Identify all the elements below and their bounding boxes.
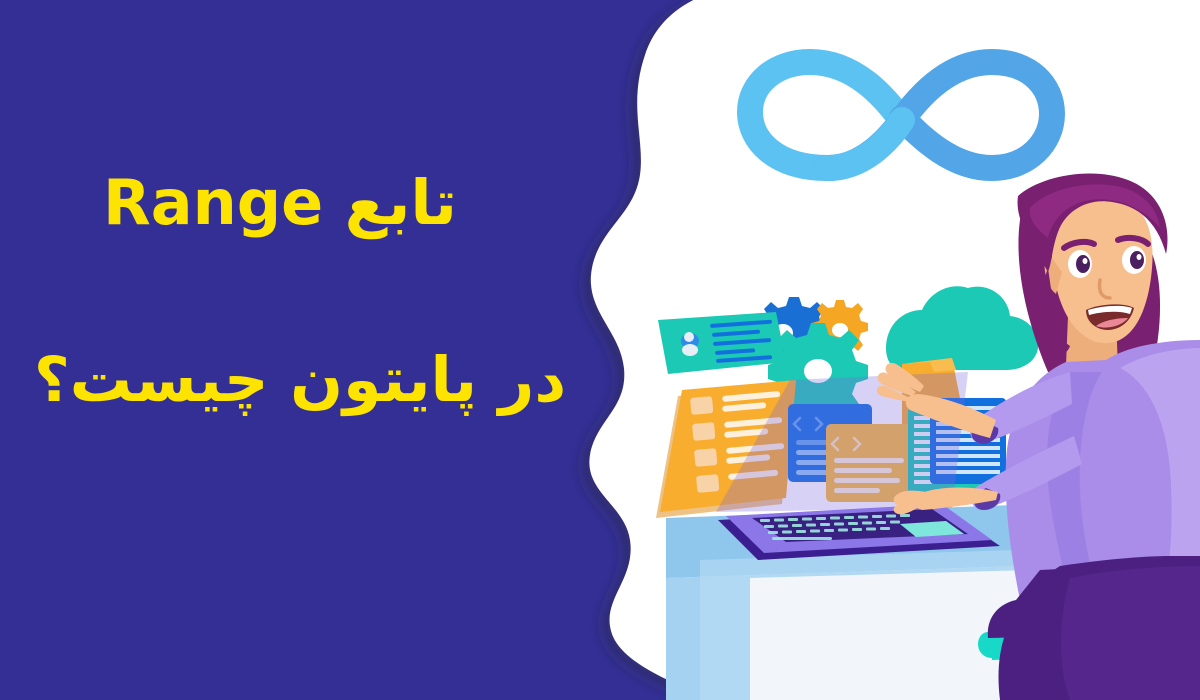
infinity-symbol xyxy=(750,62,1052,168)
illustration xyxy=(600,0,1200,700)
banner-canvas: تابع Range در پایتون چیست؟ xyxy=(0,0,1200,700)
profile-card xyxy=(658,312,786,374)
headline-block: تابع Range در پایتون چیست؟ xyxy=(0,170,600,414)
cloud-icon xyxy=(886,286,1038,370)
headline-line-1: تابع Range xyxy=(0,170,600,237)
headline-line-2: در پایتون چیست؟ xyxy=(0,347,600,414)
